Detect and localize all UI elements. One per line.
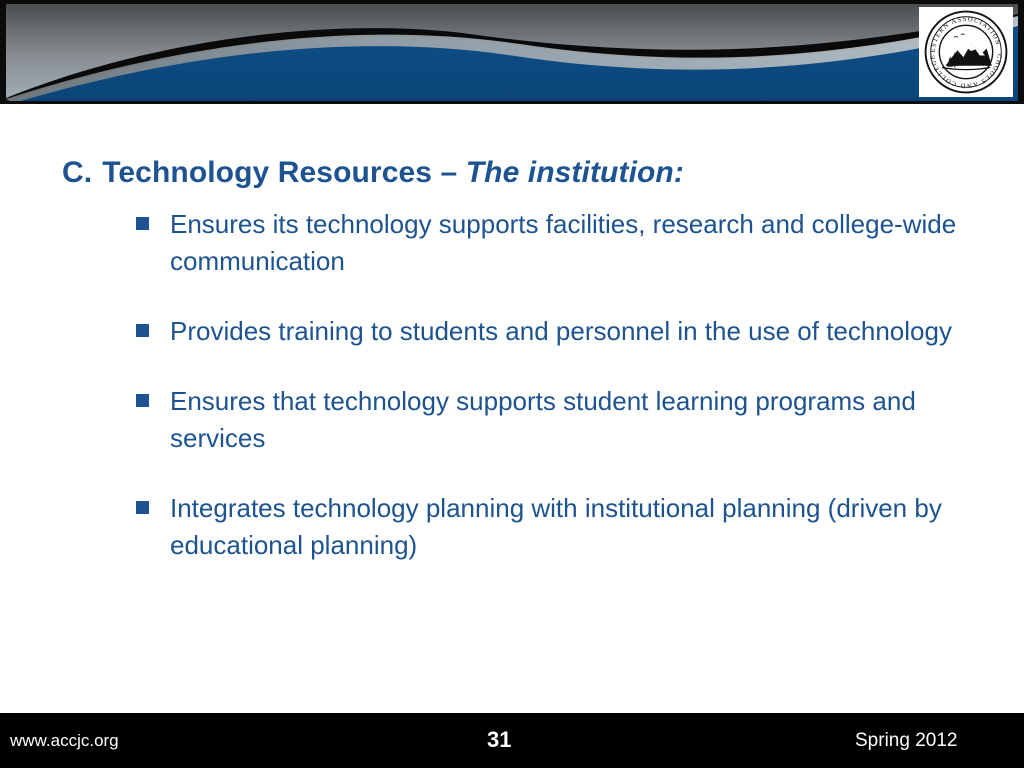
slide-title-main: Technology Resources – — [102, 156, 466, 189]
square-bullet-icon — [136, 501, 149, 514]
banner-bottom-rule — [0, 101, 1024, 104]
list-item: Integrates technology planning with inst… — [136, 490, 986, 564]
wasc-logo: WESTERN ASSOCIATION OF SCHOOLS AND COLLE… — [919, 7, 1013, 97]
list-item-text: Provides training to students and person… — [170, 313, 970, 350]
slide-header-banner: WESTERN ASSOCIATION OF SCHOOLS AND COLLE… — [0, 0, 1024, 104]
slide-title-italic: The institution: — [466, 156, 684, 189]
list-item-text: Ensures that technology supports student… — [170, 383, 970, 457]
slide-title-label: C. — [62, 156, 92, 189]
list-item-text: Ensures its technology supports faciliti… — [170, 206, 970, 280]
slide-footer: www.accjc.org 31 Spring 2012 — [0, 713, 1024, 768]
list-item: Ensures its technology supports faciliti… — [136, 206, 986, 280]
footer-website-link[interactable]: www.accjc.org — [10, 731, 119, 751]
bullet-list: Ensures its technology supports faciliti… — [136, 206, 986, 564]
square-bullet-icon — [136, 324, 149, 337]
wasc-seal-icon: WESTERN ASSOCIATION OF SCHOOLS AND COLLE… — [923, 9, 1009, 95]
square-bullet-icon — [136, 394, 149, 407]
footer-date: Spring 2012 — [855, 729, 957, 752]
banner-wave-graphic — [0, 0, 1024, 104]
list-item: Provides training to students and person… — [136, 313, 986, 350]
list-item: Ensures that technology supports student… — [136, 383, 986, 457]
slide-page-number: 31 — [487, 727, 511, 753]
list-item-text: Integrates technology planning with inst… — [170, 490, 970, 564]
presentation-slide: WESTERN ASSOCIATION OF SCHOOLS AND COLLE… — [0, 0, 1024, 768]
slide-title: C.Technology Resources – The institution… — [62, 154, 962, 192]
square-bullet-icon — [136, 217, 149, 230]
